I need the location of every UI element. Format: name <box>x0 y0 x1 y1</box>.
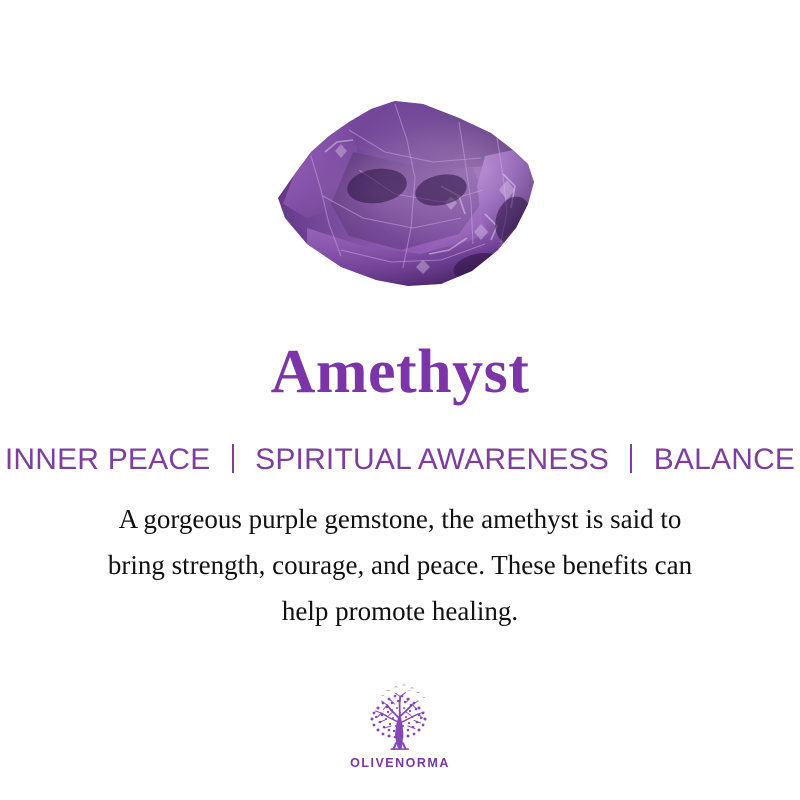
description-line: A gorgeous purple gemstone, the amethyst… <box>0 496 800 542</box>
brand-logo: OLIVENORMA <box>0 682 800 770</box>
description-line: help promote healing. <box>0 588 800 634</box>
brand-wordmark: OLIVENORMA <box>0 756 800 770</box>
raw-amethyst-crystal-image <box>245 78 565 298</box>
amethyst-info-card: Amethyst INNER PEACE SPIRITUAL AWARENESS… <box>0 0 800 800</box>
gemstone-body <box>245 78 565 298</box>
gemstone-image-area <box>0 0 800 310</box>
tagline-separator <box>232 444 234 473</box>
page-title: Amethyst <box>0 336 800 408</box>
birds-icon <box>381 685 426 699</box>
tagline-item-inner-peace: INNER PEACE <box>5 441 211 479</box>
description-line: bring strength, courage, and peace. Thes… <box>0 542 800 588</box>
tagline-item-balance: BALANCE <box>654 441 795 479</box>
tagline-item-spiritual-awareness: SPIRITUAL AWARENESS <box>255 441 609 479</box>
tree-of-life-icon <box>358 682 442 754</box>
tagline-separator <box>630 444 632 473</box>
keyword-tagline: INNER PEACE SPIRITUAL AWARENESS BALANCE <box>0 441 800 479</box>
product-description: A gorgeous purple gemstone, the amethyst… <box>0 496 800 634</box>
